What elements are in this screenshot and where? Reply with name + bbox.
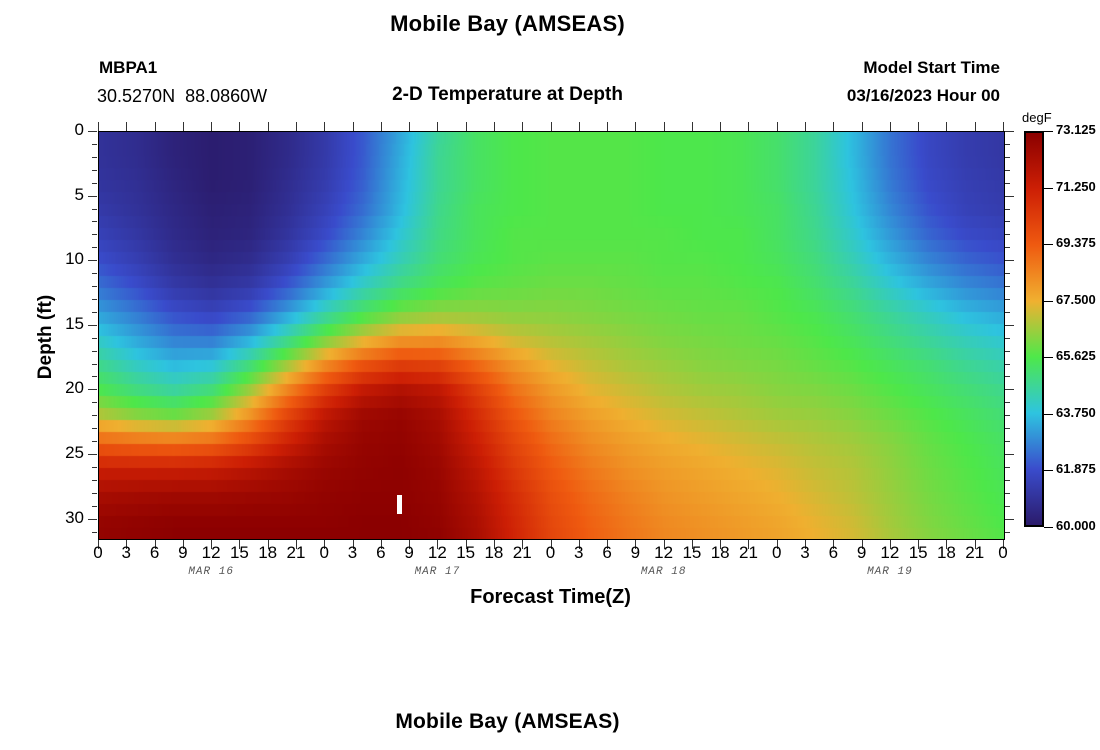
y-tick-minor-left <box>92 402 97 403</box>
x-tick-top <box>324 122 325 131</box>
y-tick-minor-left <box>92 234 97 235</box>
x-tick-top <box>381 122 382 131</box>
y-tick-major-left <box>88 519 97 520</box>
station-id: MBPA1 <box>99 58 157 78</box>
x-tick-top <box>890 122 891 131</box>
y-tick-label: 10 <box>38 249 84 269</box>
y-tick-minor-left <box>92 144 97 145</box>
colorbar-label: 65.625 <box>1056 348 1096 363</box>
y-tick-major-right <box>1005 519 1014 520</box>
x-tick-top <box>551 122 552 131</box>
colorbar-label: 69.375 <box>1056 235 1096 250</box>
x-tick-top <box>437 122 438 131</box>
x-tick-label: 0 <box>983 543 1023 563</box>
x-tick-top <box>98 122 99 131</box>
x-tick-top <box>833 122 834 131</box>
y-tick-minor-right <box>1005 480 1010 481</box>
x-tick-top <box>522 122 523 131</box>
temperature-heatmap <box>99 132 1004 539</box>
colorbar-tick <box>1044 527 1053 528</box>
y-tick-major-right <box>1005 389 1014 390</box>
y-tick-major-left <box>88 454 97 455</box>
x-tick-top <box>579 122 580 131</box>
y-tick-minor-right <box>1005 441 1010 442</box>
y-tick-minor-right <box>1005 506 1010 507</box>
y-tick-minor-right <box>1005 364 1010 365</box>
x-axis-day-label: MAR 17 <box>377 566 497 578</box>
y-tick-minor-right <box>1005 209 1010 210</box>
colorbar-tick <box>1044 357 1053 358</box>
colorbar-tick <box>1044 188 1053 189</box>
y-tick-minor-left <box>92 506 97 507</box>
x-tick-top <box>155 122 156 131</box>
footer-title: Mobile Bay (AMSEAS) <box>0 710 1015 734</box>
x-tick-top <box>494 122 495 131</box>
y-tick-minor-right <box>1005 351 1010 352</box>
y-tick-minor-right <box>1005 493 1010 494</box>
y-tick-minor-right <box>1005 273 1010 274</box>
colorbar-label: 71.250 <box>1056 179 1096 194</box>
colorbar-label: 63.750 <box>1056 405 1096 420</box>
y-tick-minor-right <box>1005 183 1010 184</box>
y-tick-minor-right <box>1005 338 1010 339</box>
y-tick-major-right <box>1005 131 1014 132</box>
x-tick-top <box>805 122 806 131</box>
y-tick-minor-left <box>92 170 97 171</box>
model-start-time-value: 03/16/2023 Hour 00 <box>700 86 1000 106</box>
y-tick-major-left <box>88 260 97 261</box>
y-tick-major-right <box>1005 454 1014 455</box>
colorbar-gradient <box>1026 133 1042 525</box>
y-tick-minor-left <box>92 209 97 210</box>
y-tick-minor-left <box>92 338 97 339</box>
y-tick-minor-right <box>1005 234 1010 235</box>
y-tick-minor-left <box>92 376 97 377</box>
y-tick-minor-right <box>1005 532 1010 533</box>
temperature-depth-plot: Mobile Bay (AMSEAS) MBPA1 30.5270N 88.08… <box>0 0 1100 750</box>
y-tick-minor-left <box>92 221 97 222</box>
x-axis-title: Forecast Time(Z) <box>98 586 1003 609</box>
y-tick-minor-right <box>1005 170 1010 171</box>
x-axis-day-label: MAR 16 <box>151 566 271 578</box>
y-tick-minor-right <box>1005 221 1010 222</box>
model-start-time-label: Model Start Time <box>700 58 1000 78</box>
y-tick-minor-right <box>1005 467 1010 468</box>
y-tick-minor-right <box>1005 428 1010 429</box>
x-tick-top <box>466 122 467 131</box>
y-tick-minor-left <box>92 532 97 533</box>
x-axis-day-label: MAR 19 <box>830 566 950 578</box>
y-tick-minor-left <box>92 351 97 352</box>
colorbar-tick <box>1044 301 1053 302</box>
y-tick-major-left <box>88 325 97 326</box>
y-tick-minor-left <box>92 415 97 416</box>
colorbar-unit-label: degF <box>1022 110 1052 125</box>
y-tick-label: 20 <box>38 378 84 398</box>
y-tick-minor-right <box>1005 312 1010 313</box>
y-tick-minor-right <box>1005 144 1010 145</box>
x-tick-top <box>296 122 297 131</box>
x-tick-top <box>664 122 665 131</box>
colorbar-label: 67.500 <box>1056 292 1096 307</box>
x-tick-top <box>607 122 608 131</box>
plot-subtitle: 2-D Temperature at Depth <box>300 84 715 106</box>
x-tick-top <box>692 122 693 131</box>
y-tick-minor-right <box>1005 157 1010 158</box>
y-tick-minor-left <box>92 247 97 248</box>
y-tick-minor-left <box>92 299 97 300</box>
y-tick-minor-left <box>92 467 97 468</box>
data-gap-artifact <box>397 495 402 514</box>
y-tick-major-left <box>88 389 97 390</box>
x-tick-top <box>268 122 269 131</box>
y-tick-minor-right <box>1005 415 1010 416</box>
y-tick-minor-left <box>92 441 97 442</box>
colorbar-tick <box>1044 470 1053 471</box>
y-tick-minor-left <box>92 428 97 429</box>
x-axis-day-label: MAR 18 <box>604 566 724 578</box>
colorbar <box>1024 131 1044 527</box>
x-tick-top <box>720 122 721 131</box>
y-tick-minor-right <box>1005 376 1010 377</box>
y-tick-minor-left <box>92 183 97 184</box>
y-tick-minor-left <box>92 480 97 481</box>
y-tick-minor-right <box>1005 286 1010 287</box>
y-tick-minor-right <box>1005 247 1010 248</box>
x-tick-top <box>748 122 749 131</box>
y-tick-major-left <box>88 196 97 197</box>
colorbar-label: 73.125 <box>1056 122 1096 137</box>
x-tick-top <box>975 122 976 131</box>
y-tick-label: 0 <box>38 120 84 140</box>
y-tick-label: 25 <box>38 443 84 463</box>
y-tick-minor-left <box>92 364 97 365</box>
colorbar-tick <box>1044 414 1053 415</box>
x-tick-top <box>409 122 410 131</box>
y-tick-minor-left <box>92 273 97 274</box>
y-tick-major-right <box>1005 260 1014 261</box>
y-tick-major-right <box>1005 325 1014 326</box>
y-tick-label: 5 <box>38 185 84 205</box>
x-tick-top <box>777 122 778 131</box>
y-tick-major-right <box>1005 196 1014 197</box>
heatmap-plot-area <box>98 131 1005 540</box>
colorbar-tick <box>1044 131 1053 132</box>
y-tick-major-left <box>88 131 97 132</box>
y-tick-label: 15 <box>38 314 84 334</box>
x-tick-top <box>1003 122 1004 131</box>
page-title: Mobile Bay (AMSEAS) <box>0 11 1015 37</box>
station-coordinates: 30.5270N 88.0860W <box>97 86 267 107</box>
y-tick-minor-right <box>1005 402 1010 403</box>
y-tick-minor-right <box>1005 299 1010 300</box>
x-tick-top <box>862 122 863 131</box>
y-tick-minor-left <box>92 157 97 158</box>
x-tick-top <box>353 122 354 131</box>
colorbar-tick <box>1044 244 1053 245</box>
y-tick-minor-left <box>92 312 97 313</box>
y-tick-minor-left <box>92 493 97 494</box>
x-tick-top <box>635 122 636 131</box>
x-tick-top <box>183 122 184 131</box>
x-tick-top <box>239 122 240 131</box>
colorbar-label: 60.000 <box>1056 518 1096 533</box>
x-tick-top <box>126 122 127 131</box>
colorbar-label: 61.875 <box>1056 461 1096 476</box>
x-tick-top <box>211 122 212 131</box>
y-tick-label: 30 <box>38 508 84 528</box>
x-tick-top <box>946 122 947 131</box>
x-tick-top <box>918 122 919 131</box>
y-tick-minor-left <box>92 286 97 287</box>
